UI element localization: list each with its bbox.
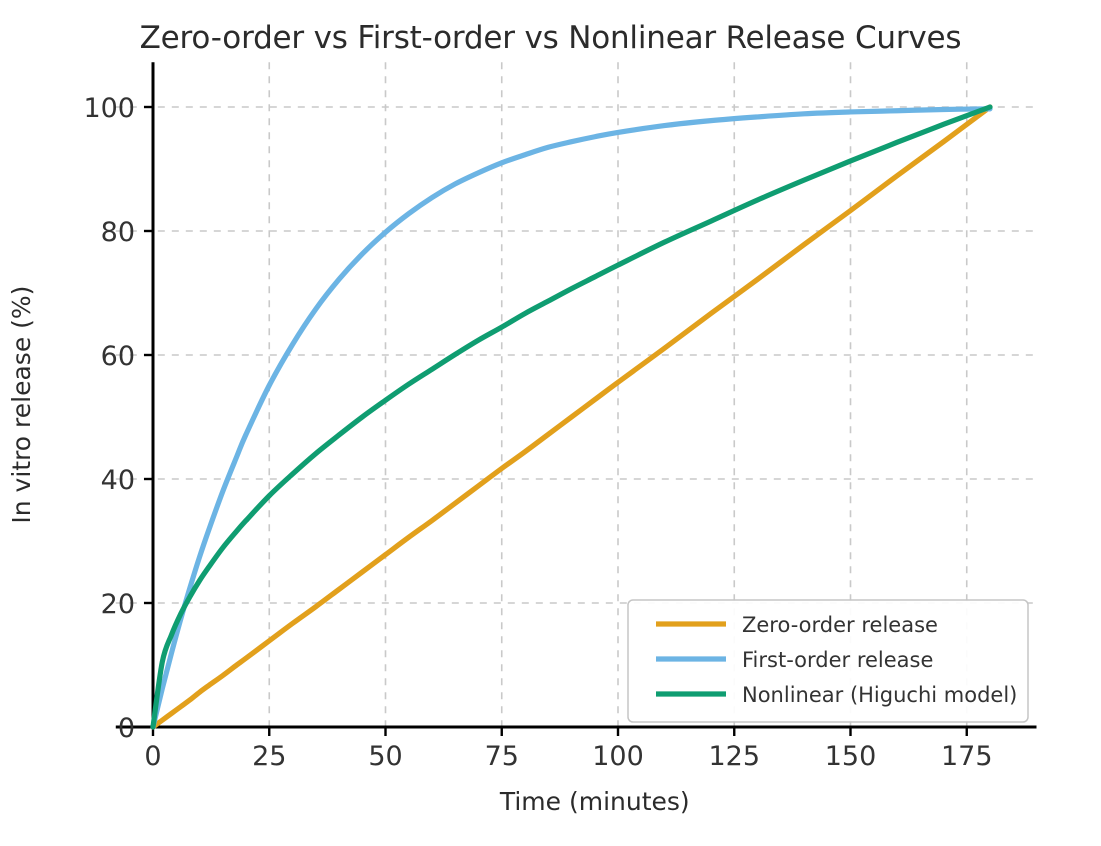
x-tick-label: 75: [485, 741, 519, 772]
release-curves-plot: 0255075100125150175020406080100 Time (mi…: [0, 0, 1101, 846]
y-axis-title: In vitro release (%): [7, 286, 36, 524]
x-tick-label: 25: [252, 741, 286, 772]
legend-label-0: Zero-order release: [742, 613, 938, 637]
legend-label-2: Nonlinear (Higuchi model): [742, 683, 1017, 707]
y-tick-label: 80: [101, 217, 135, 248]
x-tick-label: 50: [368, 741, 402, 772]
x-tick-label: 100: [592, 741, 644, 772]
chart-figure: Zero-order vs First-order vs Nonlinear R…: [0, 0, 1101, 846]
x-tick-label: 125: [708, 741, 760, 772]
x-tick-label: 175: [941, 741, 993, 772]
legend-label-1: First-order release: [742, 648, 933, 672]
y-tick-label: 40: [101, 465, 135, 496]
y-tick-label: 100: [83, 93, 135, 124]
chart-legend: Zero-order releaseFirst-order releaseNon…: [628, 600, 1028, 722]
x-tick-label: 150: [825, 741, 877, 772]
y-tick-label: 20: [101, 589, 135, 620]
y-tick-label: 60: [101, 341, 135, 372]
x-tick-label: 0: [144, 741, 161, 772]
y-tick-label: 0: [118, 713, 135, 744]
x-axis-title: Time (minutes): [499, 787, 690, 816]
